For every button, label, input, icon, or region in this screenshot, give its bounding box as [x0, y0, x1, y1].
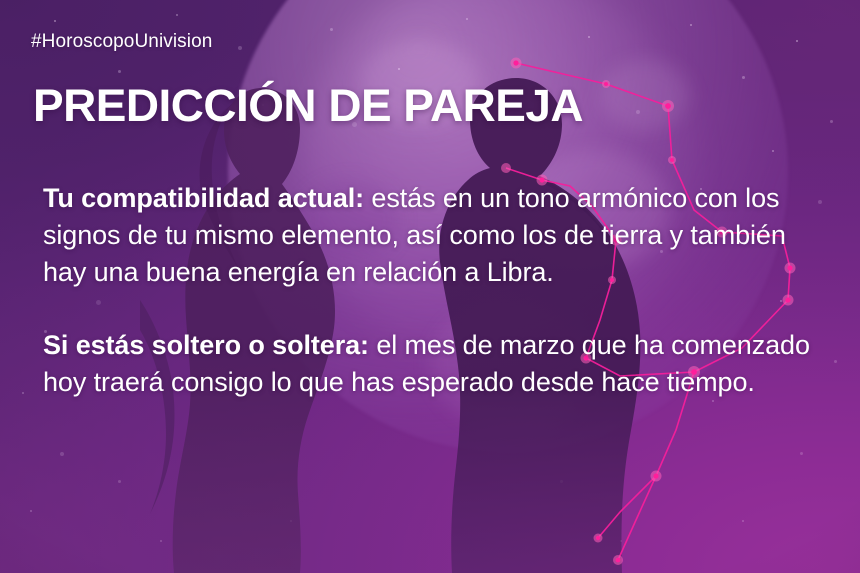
- paragraph-compatibility-lead: Tu compatibilidad actual:: [43, 183, 364, 213]
- paragraph-single-lead: Si estás soltero o soltera:: [43, 330, 369, 360]
- page-title: PREDICCIÓN DE PAREJA: [33, 81, 583, 131]
- horoscope-card: #HoroscopoUnivision PREDICCIÓN DE PAREJA…: [0, 0, 860, 573]
- paragraph-compatibility: Tu compatibilidad actual: estás en un to…: [43, 180, 833, 291]
- text-content: #HoroscopoUnivision PREDICCIÓN DE PAREJA…: [0, 0, 860, 573]
- paragraph-single: Si estás soltero o soltera: el mes de ma…: [43, 327, 833, 401]
- prediction-body: Tu compatibilidad actual: estás en un to…: [43, 180, 833, 401]
- hashtag-label: #HoroscopoUnivision: [31, 31, 212, 53]
